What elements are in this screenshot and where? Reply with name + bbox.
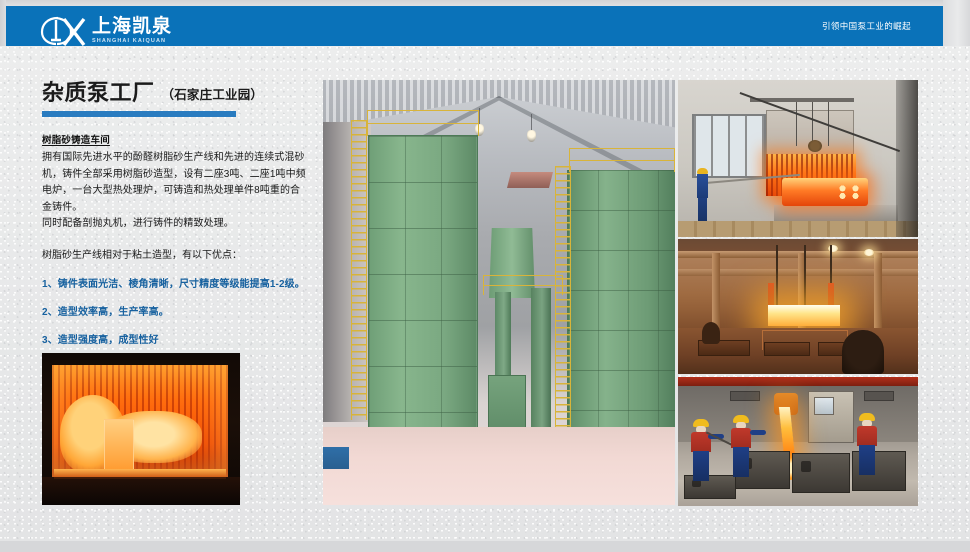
wall-panel — [864, 391, 894, 401]
body-paragraph: 同时配备剖抛丸机，进行铸件的精致处理。 — [42, 216, 310, 233]
floor-planks — [678, 221, 918, 237]
brand-logo[interactable]: 上海凯泉 SHANGHAI KAIQUAN — [40, 14, 172, 48]
crane-sling — [776, 245, 778, 307]
worker-torso — [857, 426, 877, 446]
wall-panel — [730, 391, 760, 401]
blue-floor-marking — [323, 447, 349, 469]
pendant-lamp — [527, 130, 536, 142]
worker-legs — [733, 447, 749, 477]
worker-figure — [696, 168, 709, 228]
sling-strap — [768, 283, 774, 307]
workshop-floor — [323, 427, 675, 505]
hot-casting — [782, 178, 868, 206]
safety-railing — [569, 148, 675, 172]
worker-legs — [693, 451, 709, 481]
worker-arm — [750, 430, 766, 435]
body-paragraph: 拥有国际先进水平的酚醛树脂砂生产线和先进的连续式混砂机，铸件全部采用树脂砂造型，… — [42, 150, 310, 216]
slide-bottom-edge — [0, 541, 970, 552]
worker-legs — [859, 445, 875, 475]
photo-crane-lift — [678, 239, 918, 374]
sling-strap — [828, 283, 834, 307]
sand-mold-box — [792, 453, 850, 493]
safety-railing — [367, 110, 479, 136]
safety-railing — [483, 275, 563, 295]
casting-fixture — [104, 419, 134, 473]
worker-torso — [697, 174, 708, 198]
page-header: 上海凯泉 SHANGHAI KAIQUAN 引领中国泵工业的崛起 — [6, 6, 943, 46]
red-overhead-beam — [678, 377, 918, 386]
advantage-bullet: 1、铸件表面光洁、棱角清晰，尺寸精度等级能提高1-2级。 — [42, 277, 310, 292]
title-underline-rule — [42, 111, 236, 117]
section-heading: 树脂砂铸造车间 — [42, 132, 310, 146]
photo-pouring — [678, 377, 918, 506]
photo-furnace-interior — [42, 353, 240, 505]
advantage-bullet: 2、造型效率高，生产率高。 — [42, 305, 310, 320]
access-ladder — [351, 120, 367, 420]
mold-crate — [764, 342, 810, 356]
worker-figure — [730, 415, 752, 477]
page-title: 杂质泵工厂 — [42, 82, 155, 104]
header-right-margin — [943, 0, 970, 46]
photo-furnace-load — [678, 80, 918, 237]
worker-torso — [731, 428, 751, 448]
content-text-column: 杂质泵工厂 （石家庄工业园） 树脂砂铸造车间 拥有国际先进水平的酚醛树脂砂生产线… — [42, 82, 310, 376]
foreground-head-silhouette — [842, 330, 884, 374]
slide-canvas: 上海凯泉 SHANGHAI KAIQUAN 引领中国泵工业的崛起 杂质泵工厂 （… — [0, 0, 970, 552]
worker-figure — [690, 419, 712, 481]
logo-text-en: SHANGHAI KAIQUAN — [92, 39, 172, 45]
worker-figure — [856, 413, 878, 477]
crane-rope — [796, 102, 797, 146]
page-subtitle: （石家庄工业园） — [162, 84, 264, 104]
material-chute — [507, 172, 553, 188]
page-title-row: 杂质泵工厂 （石家庄工业园） — [42, 82, 310, 104]
workshop-window — [814, 397, 834, 415]
green-sand-silo — [368, 135, 478, 435]
glowing-casting — [768, 305, 840, 326]
logo-text-cn: 上海凯泉 — [92, 17, 172, 36]
header-tagline: 引领中国泵工业的崛起 — [822, 6, 911, 46]
crane-sling — [804, 245, 806, 307]
furnace-base-shadow — [42, 477, 240, 505]
high-bay-light — [864, 249, 874, 256]
advantage-bullet: 3、造型强度高，成型性好 — [42, 333, 310, 348]
photo-edge-shadow — [896, 80, 918, 237]
worker-silhouette — [702, 322, 720, 344]
wall-column — [874, 253, 882, 335]
photo-sand-plant — [323, 80, 675, 505]
kaiquan-logo-icon — [40, 15, 86, 47]
access-ladder — [555, 166, 571, 466]
crane-hook — [808, 140, 822, 152]
advantages-lead-in: 树脂砂生产线相对于粘土造型，有以下优点： — [42, 248, 310, 264]
